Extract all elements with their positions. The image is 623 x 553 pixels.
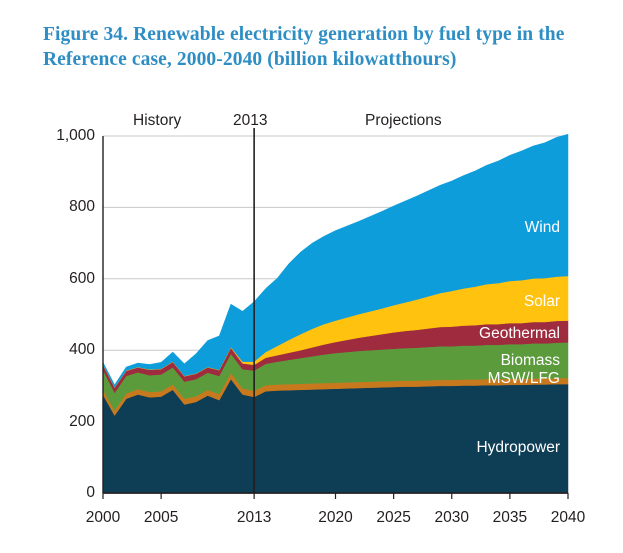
series-label-hydropower: Hydropower	[476, 439, 560, 457]
stacked-area-chart: 02004006008001,000 200020052013202020252…	[0, 0, 623, 553]
figure-root: Figure 34. Renewable electricity generat…	[0, 0, 623, 553]
x-axis-tick-label: 2040	[551, 509, 585, 527]
x-axis-tick-label: 2013	[237, 509, 271, 527]
annotation-divider-year: 2013	[233, 112, 267, 130]
series-label-biomass: Biomass	[501, 352, 560, 370]
x-axis-tick-label: 2035	[493, 509, 527, 527]
x-axis-tick-label: 2000	[86, 509, 120, 527]
annotation-projections: Projections	[365, 112, 442, 130]
series-label-geothermal: Geothermal	[479, 325, 560, 343]
x-axis-tick-label: 2025	[376, 509, 410, 527]
x-axis-tick-label: 2005	[144, 509, 178, 527]
x-axis-labels: 20002005201320202025203020352040	[0, 503, 623, 533]
y-axis-tick-label: 600	[33, 270, 95, 288]
y-axis-tick-label: 0	[33, 484, 95, 502]
area-series-hydropower	[103, 379, 568, 493]
series-label-solar: Solar	[524, 293, 560, 311]
y-axis-tick-label: 1,000	[33, 127, 95, 145]
series-label-wind: Wind	[525, 219, 560, 237]
x-axis-tick-label: 2030	[435, 509, 469, 527]
y-axis-labels: 02004006008001,000	[33, 0, 95, 553]
y-axis-tick-label: 400	[33, 341, 95, 359]
y-axis-tick-label: 200	[33, 413, 95, 431]
annotation-history: History	[133, 112, 181, 130]
y-axis-tick-label: 800	[33, 198, 95, 216]
series-label-msw-lfg: MSW/LFG	[488, 370, 560, 388]
x-axis-tick-label: 2020	[318, 509, 352, 527]
